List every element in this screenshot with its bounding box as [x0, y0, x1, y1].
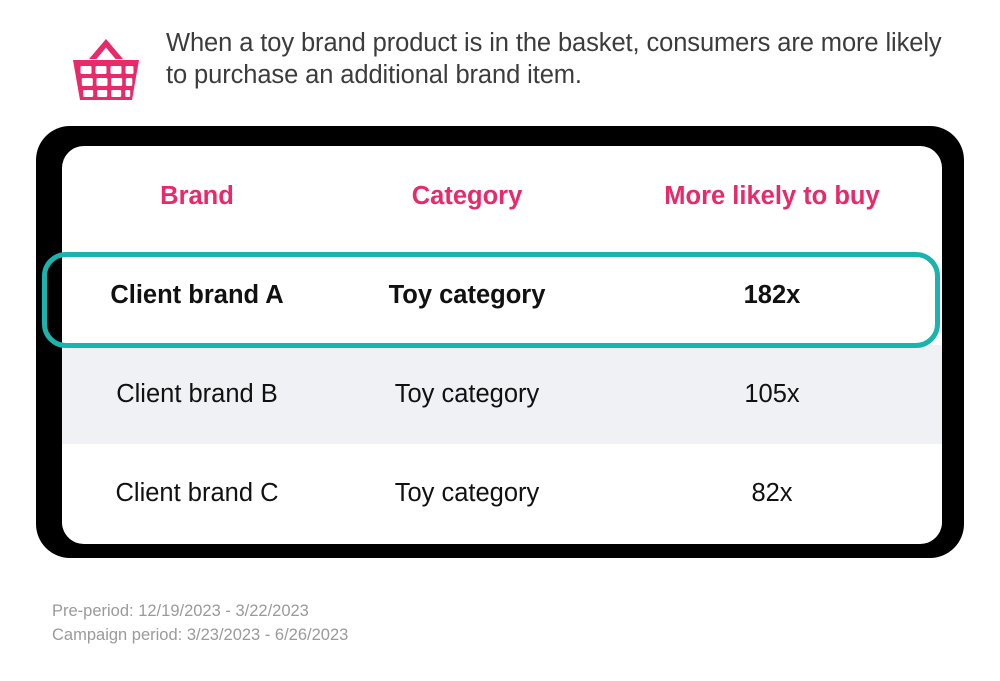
header: When a toy brand product is in the baske… — [70, 28, 950, 114]
card-surface: Brand Category More likely to buy Client… — [62, 146, 942, 544]
cell-brand: Client brand C — [62, 479, 332, 508]
cell-brand: Client brand B — [62, 380, 332, 409]
cell-value: 105x — [602, 380, 942, 409]
cell-value: 182x — [602, 281, 942, 310]
cell-brand: Client brand A — [62, 281, 332, 310]
footnote-campaign-period: Campaign period: 3/23/2023 - 6/26/2023 — [52, 624, 348, 648]
table-header-row: Brand Category More likely to buy — [62, 146, 942, 246]
cell-category: Toy category — [332, 380, 602, 409]
column-header-value: More likely to buy — [602, 182, 942, 211]
footnotes: Pre-period: 12/19/2023 - 3/22/2023 Campa… — [52, 600, 348, 648]
column-header-category: Category — [332, 182, 602, 211]
shopping-basket-icon — [70, 34, 142, 104]
table-row[interactable]: Client brand C Toy category 82x — [62, 444, 942, 543]
cell-category: Toy category — [332, 479, 602, 508]
footnote-pre-period: Pre-period: 12/19/2023 - 3/22/2023 — [52, 600, 348, 624]
table-row[interactable]: Client brand A Toy category 182x — [62, 246, 942, 345]
cell-value: 82x — [602, 479, 942, 508]
cell-category: Toy category — [332, 281, 602, 310]
comparison-table: Brand Category More likely to buy Client… — [62, 146, 942, 544]
page-title: When a toy brand product is in the baske… — [166, 28, 946, 92]
table-row[interactable]: Client brand B Toy category 105x — [62, 345, 942, 444]
stat-card: Brand Category More likely to buy Client… — [36, 126, 964, 566]
column-header-brand: Brand — [62, 182, 332, 211]
